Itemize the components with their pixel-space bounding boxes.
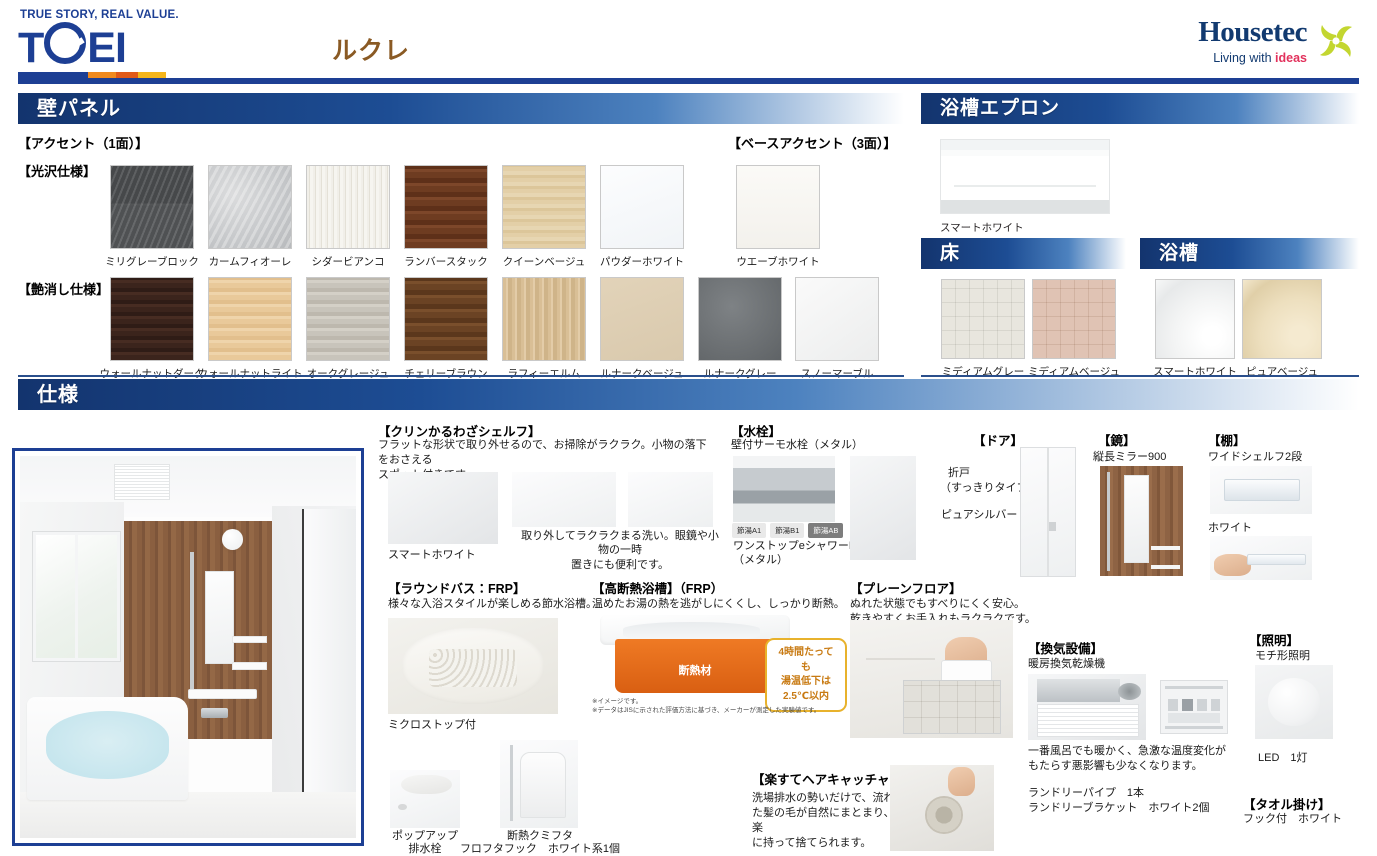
swatch-matte-2[interactable] [306,277,390,361]
spec-title-mirror: 【鏡】 [1098,430,1136,449]
spec-subtitle-faucet: 壁付サーモ水栓（メタル） [731,438,863,452]
swatch-label-gloss-2: シダービアンコ [293,254,403,269]
diagram-insulated-tub: 断熱材 [600,615,790,695]
bathroom-render-frame [12,448,364,846]
caption-shower-head: ワンストップeシャワーNf （メタル） [733,539,860,568]
spec-title-plain-floor: 【プレーンフロア】 [850,578,962,597]
caption-rack-wide: ワイドシェルフ2段 [1208,450,1302,464]
brand-tagline: TRUE STORY, REAL VALUE. [20,9,179,21]
swatch-label-gloss-5: パウダーホワイト [587,254,697,269]
spec-desc-round-bath: 様々な入浴スタイルが楽しめる節水浴槽。 [388,597,597,612]
swatch-gloss-2[interactable] [306,165,390,249]
label-insulation-material: 断熱材 [615,662,775,678]
bathroom-render [20,456,356,838]
swatch-matte-3[interactable] [404,277,488,361]
photo-shower-head [850,456,916,560]
photo-hair-catcher [890,765,994,851]
photo-shelf-main [388,472,498,544]
section-header-spec: 仕様 [18,379,1359,410]
photo-led-light [1255,665,1333,739]
swatch-matte-0[interactable] [110,277,194,361]
spec-title-door: 【ドア】 [973,430,1023,449]
caption-laundry-pipe: ランドリーパイプ 1本 [1028,786,1144,800]
swatch-label-gloss-3: ランバースタック [391,254,501,269]
section-header-wall-panel: 壁パネル [18,93,904,124]
spec-desc-hair-catcher: 洗場排水の勢いだけで、流れ た髪の毛が自然にまとまり、楽 に持って捨てられます。 [752,791,897,850]
photo-shelf-glasses [628,472,713,527]
header-divider [18,78,1359,84]
spec-title-round-bath: 【ラウンドバス：FRP】 [388,578,526,597]
apron-photo [940,139,1110,214]
swatch-bathtub-0[interactable] [1155,279,1235,359]
label-base-accent-3men: 【ベースアクセント（3面）】 [728,133,896,152]
caption-micro-stop: ミクロストップ付 [388,718,476,732]
photo-shelf-detached [512,472,616,527]
page-title: ルクレ [332,31,410,67]
caption-shelf-color: スマートホワイト [388,548,476,562]
wall-faucet [201,708,228,718]
swatch-matte-5[interactable] [600,277,684,361]
swatch-gloss-1[interactable] [208,165,292,249]
caption-towel: フック付 ホワイト [1243,812,1342,826]
photo-wide-shelf [1210,466,1312,514]
swatch-label-gloss-0: ミリグレーブロック [97,254,207,269]
swatch-gloss-0[interactable] [110,165,194,249]
wall-mirror [205,571,234,665]
label-gloss-spec: 【光沢仕様】 [18,161,96,180]
section-header-floor: 床 [921,238,1126,269]
swatch-floor-0[interactable] [941,279,1025,359]
label-accent-1men: 【アクセント（1面）】 [18,133,148,152]
section-title-spec: 仕様 [37,382,79,408]
photo-mirror [1100,466,1183,576]
spec-title-towel: 【タオル掛け】 [1243,794,1331,813]
spec-subtitle-ventilation: 暖房換気乾燥機 [1028,657,1105,671]
spec-door-line3: ピュアシルバー [941,508,1017,522]
section-title-apron: 浴槽エプロン [940,96,1060,122]
eco-badge-1: 節湯B1 [770,523,804,538]
folding-door [302,509,356,792]
spec-title-lighting: 【照明】 [1249,630,1299,649]
photo-insulated-lid [500,740,578,828]
catalog-page: TRUE STORY, REAL VALUE. TEI ルクレ Housetec… [0,0,1377,855]
eco-badge-0: 節湯A1 [732,523,766,538]
caption-pop-up-2: 排水栓 [392,842,458,856]
page-header: TRUE STORY, REAL VALUE. TEI ルクレ Housetec… [0,0,1377,88]
pinwheel-icon [1313,18,1359,64]
swatch-matte-4[interactable] [502,277,586,361]
swatch-gloss-3[interactable] [404,165,488,249]
wall-panel-bottom-rule [18,375,904,377]
spec-desc-ventilation: 一番風呂でも暖かく、急激な温度変化が もたらす悪影響も少なくなります。 [1028,744,1228,774]
spec-door-line1: 折戸 [948,466,970,480]
label-matte-spec: 【艶消し仕様】 [18,279,109,298]
swatch-floor-1[interactable] [1032,279,1116,359]
section-title-wall-panel: 壁パネル [37,96,121,122]
photo-door [1020,447,1076,577]
swatch-gloss-4[interactable] [502,165,586,249]
swatch-label-gloss-4: クイーンベージュ [489,254,599,269]
toei-logo: TEI [18,22,126,70]
housetec-name: Housetec [1198,16,1307,49]
swatch-gloss-5[interactable] [600,165,684,249]
swatch-gloss-base-0[interactable] [736,165,820,249]
section-header-apron: 浴槽エプロン [921,93,1359,124]
floor-texture-inset [903,680,1001,734]
spec-title-rack: 【棚】 [1208,430,1246,449]
swatch-matte-1[interactable] [208,277,292,361]
ceiling-light [222,529,244,550]
caption-laundry-bracket: ランドリーブラケット ホワイト2個 [1028,801,1209,815]
swatch-matte-6[interactable] [698,277,782,361]
photo-ventilation-unit [1028,674,1146,740]
spec-title-ventilation: 【換気設備】 [1028,638,1103,657]
section-title-bathtub: 浴槽 [1159,241,1199,267]
ceiling-vent-icon [114,464,170,500]
toei-ring-icon [44,22,86,64]
caption-shelf-usage: 取り外してラクラクまる洗い。眼鏡や小物の一時 置きにも便利です。 [520,529,720,572]
spec-subtitle-lighting: モチ形照明 [1255,649,1310,663]
swatch-label-gloss-1: カームフィオーレ [195,254,305,269]
note-insulated-bath: ※イメージです。 ※データはJISに示された評価方法に基づき、メーカーが測定した… [592,697,820,716]
eco-badge-2: 節湯AB [808,523,843,538]
caption-rack-white: ホワイト [1208,521,1252,535]
photo-round-bath [388,618,558,714]
photo-shelf-white [1210,536,1312,580]
swatch-label-gloss-base-0: ウエーブホワイト [723,254,833,269]
spec-title-insulated-bath: 【高断熱浴槽】（FRP） [592,578,723,597]
apron-caption: スマートホワイト [940,220,1024,235]
caption-lid-2: フロフタフック ホワイト系1個 [452,842,628,856]
ventilation-control-panel[interactable] [1160,680,1228,734]
housetec-slogan: Living with ideas [1213,51,1307,65]
section-title-floor: 床 [940,241,960,267]
eco-badge-group: 節湯A1 節湯B1 節湯AB [732,523,843,538]
swatch-matte-base-0[interactable] [795,277,879,361]
swatch-bathtub-1[interactable] [1242,279,1322,359]
bathtub-in-room [27,697,188,800]
photo-pop-up-drain [390,770,460,828]
photo-thermo-faucet [733,456,835,522]
spec-desc-insulated-bath: 温めたお湯の熱を逃がしにくくし、しっかり断熱。 [592,597,845,612]
caption-mirror: 縦長ミラー900 [1093,450,1166,464]
caption-led: LED 1灯 [1258,751,1308,765]
right-column-bottom-rule [921,375,1359,377]
window [33,532,120,660]
housetec-logo: Housetec Living with ideas [1111,16,1361,72]
section-header-bathtub: 浴槽 [1140,238,1359,269]
